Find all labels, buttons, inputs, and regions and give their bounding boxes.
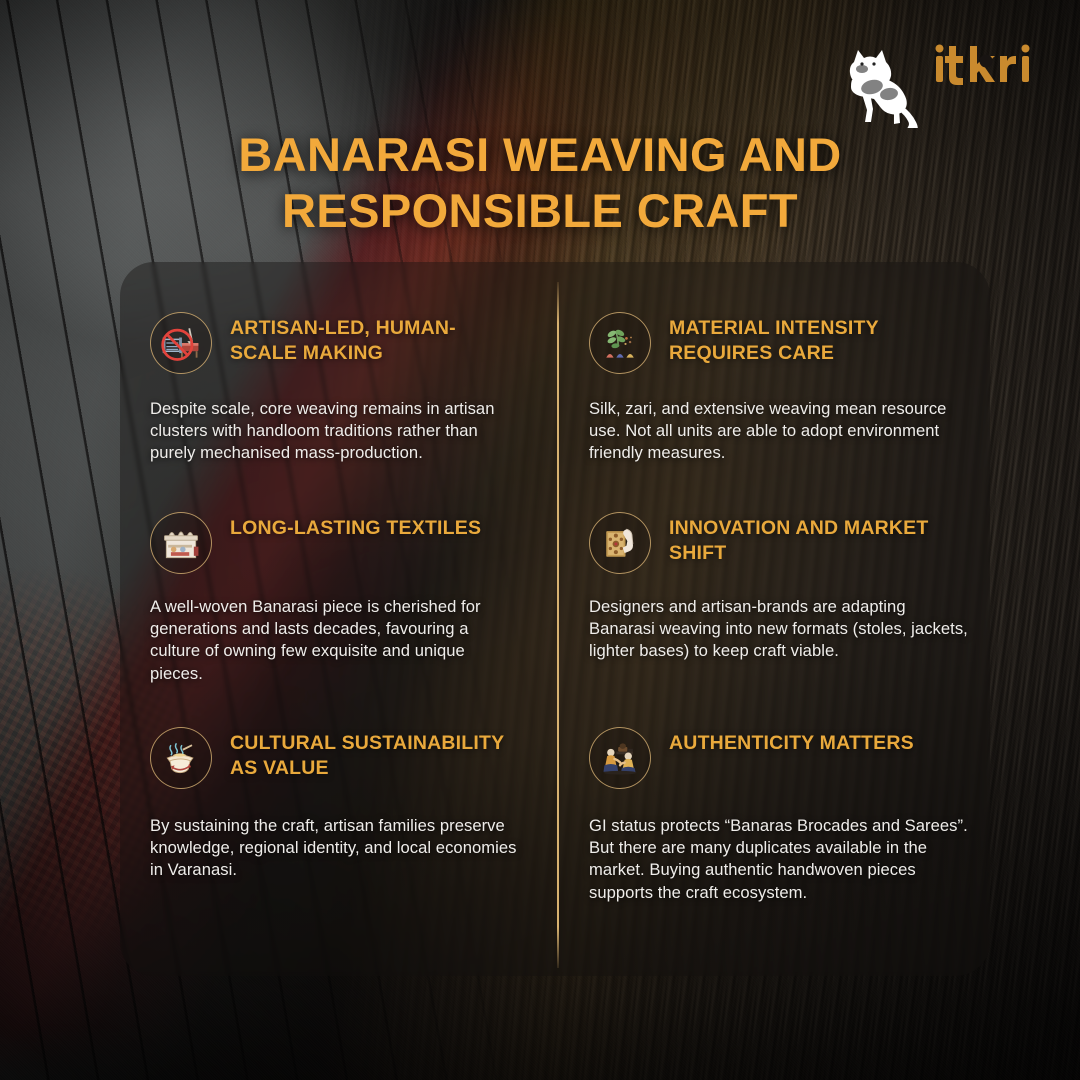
card-body: Silk, zari, and extensive weaving mean r… [589,398,968,465]
card-body: Despite scale, core weaving remains in a… [150,398,517,465]
card-header: INNOVATION AND MARKET SHIFT [589,510,968,574]
card-header: ARTISAN-LED, HUMAN-SCALE MAKING [150,310,517,374]
brand-logo[interactable] [934,38,1042,90]
card-title: LONG-LASTING TEXTILES [230,510,481,541]
card-long-lasting-textiles: LONG-LASTING TEXTILES A well-woven Banar… [120,462,557,677]
hand-holding-brocade-icon [589,512,651,574]
no-powerloom-icon [150,312,212,374]
card-authenticity-matters: AUTHENTICITY MATTERS GI status protects … [557,677,990,976]
card-header: LONG-LASTING TEXTILES [150,510,517,574]
card-header: AUTHENTICITY MATTERS [589,725,968,789]
dye-plant-icon [589,312,651,374]
steaming-pot-icon [150,727,212,789]
heritage-shop-icon [150,512,212,574]
card-body: A well-woven Banarasi piece is cherished… [150,596,517,685]
page-title-line-2: RESPONSIBLE CRAFT [110,183,970,238]
card-body: Designers and artisan-brands are adaptin… [589,596,968,663]
card-title: ARTISAN-LED, HUMAN-SCALE MAKING [230,310,517,365]
card-body: GI status protects “Banaras Brocades and… [589,815,968,904]
cards-grid: ARTISAN-LED, HUMAN-SCALE MAKING Despite … [120,262,990,976]
card-cultural-sustainability: CULTURAL SUSTAINABILITY AS VALUE By sust… [120,677,557,976]
infographic-canvas: BANARASI WEAVING AND RESPONSIBLE CRAFT [0,0,1080,1080]
card-header: MATERIAL INTENSITY REQUIRES CARE [589,310,968,374]
card-title: INNOVATION AND MARKET SHIFT [669,510,968,565]
card-title: AUTHENTICITY MATTERS [669,725,914,756]
page-title-line-1: BANARASI WEAVING AND [238,128,841,181]
card-innovation-market-shift: INNOVATION AND MARKET SHIFT Designers an… [557,462,990,677]
two-artisans-trading-icon [589,727,651,789]
card-material-intensity: MATERIAL INTENSITY REQUIRES CARE Silk, z… [557,262,990,462]
card-header: CULTURAL SUSTAINABILITY AS VALUE [150,725,517,789]
page-title: BANARASI WEAVING AND RESPONSIBLE CRAFT [0,127,1080,238]
card-title: MATERIAL INTENSITY REQUIRES CARE [669,310,968,365]
card-artisan-led: ARTISAN-LED, HUMAN-SCALE MAKING Despite … [120,262,557,462]
cat-mark-icon [832,42,922,128]
card-body: By sustaining the craft, artisan familie… [150,815,517,882]
card-title: CULTURAL SUSTAINABILITY AS VALUE [230,725,517,780]
